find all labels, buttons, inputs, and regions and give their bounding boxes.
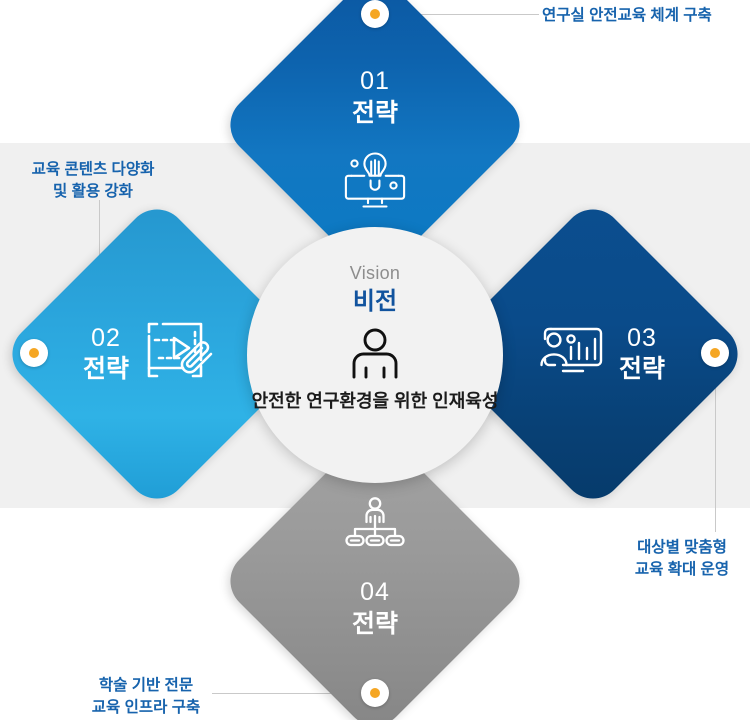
infographic-diagram: 01 전략 <box>0 0 750 720</box>
strategy-02-label: 교육 콘텐츠 다양화 및 활용 강화 <box>18 159 168 203</box>
vision-label-korean: 비전 <box>353 286 397 317</box>
video-attachment-icon <box>143 320 215 389</box>
strategy-01-label: 연구실 안전교육 체계 구축 <box>542 5 712 27</box>
strategy-04-word: 전략 <box>352 609 398 640</box>
vision-description: 안전한 연구환경을 위한 인재육성 <box>252 390 499 413</box>
org-chart-icon <box>344 496 406 557</box>
connector-dot-strategy-04[interactable] <box>361 679 389 707</box>
strategy-03-label: 대상별 맞춤형 교육 확대 운영 <box>626 537 738 581</box>
person-chart-board-icon <box>537 323 605 386</box>
strategy-03-word: 전략 <box>619 354 665 385</box>
vision-label-english: Vision <box>350 263 401 285</box>
strategy-02-word: 전략 <box>83 354 129 385</box>
strategy-02-text: 02 전략 <box>83 323 129 386</box>
strategy-04-label: 학술 기반 전문 교육 인프라 구축 <box>86 675 206 719</box>
person-icon <box>349 327 401 384</box>
strategy-01-text: 01 전략 <box>352 66 398 129</box>
connector-dot-strategy-01[interactable] <box>361 0 389 28</box>
strategy-01-word: 전략 <box>352 98 398 129</box>
monitor-lightbulb-icon <box>344 151 406 214</box>
strategy-02-number: 02 <box>83 323 129 354</box>
strategy-03-text: 03 전략 <box>619 323 665 386</box>
strategy-03-number: 03 <box>619 323 665 354</box>
strategy-04-text: 04 전략 <box>352 577 398 640</box>
strategy-04-number: 04 <box>352 577 398 608</box>
connector-dot-strategy-03[interactable] <box>701 339 729 367</box>
connector-line-strategy-03 <box>715 367 716 532</box>
connector-dot-strategy-02[interactable] <box>20 339 48 367</box>
vision-circle: Vision 비전 안전한 연구환경을 위한 인재육성 <box>247 227 503 483</box>
strategy-01-number: 01 <box>352 66 398 97</box>
